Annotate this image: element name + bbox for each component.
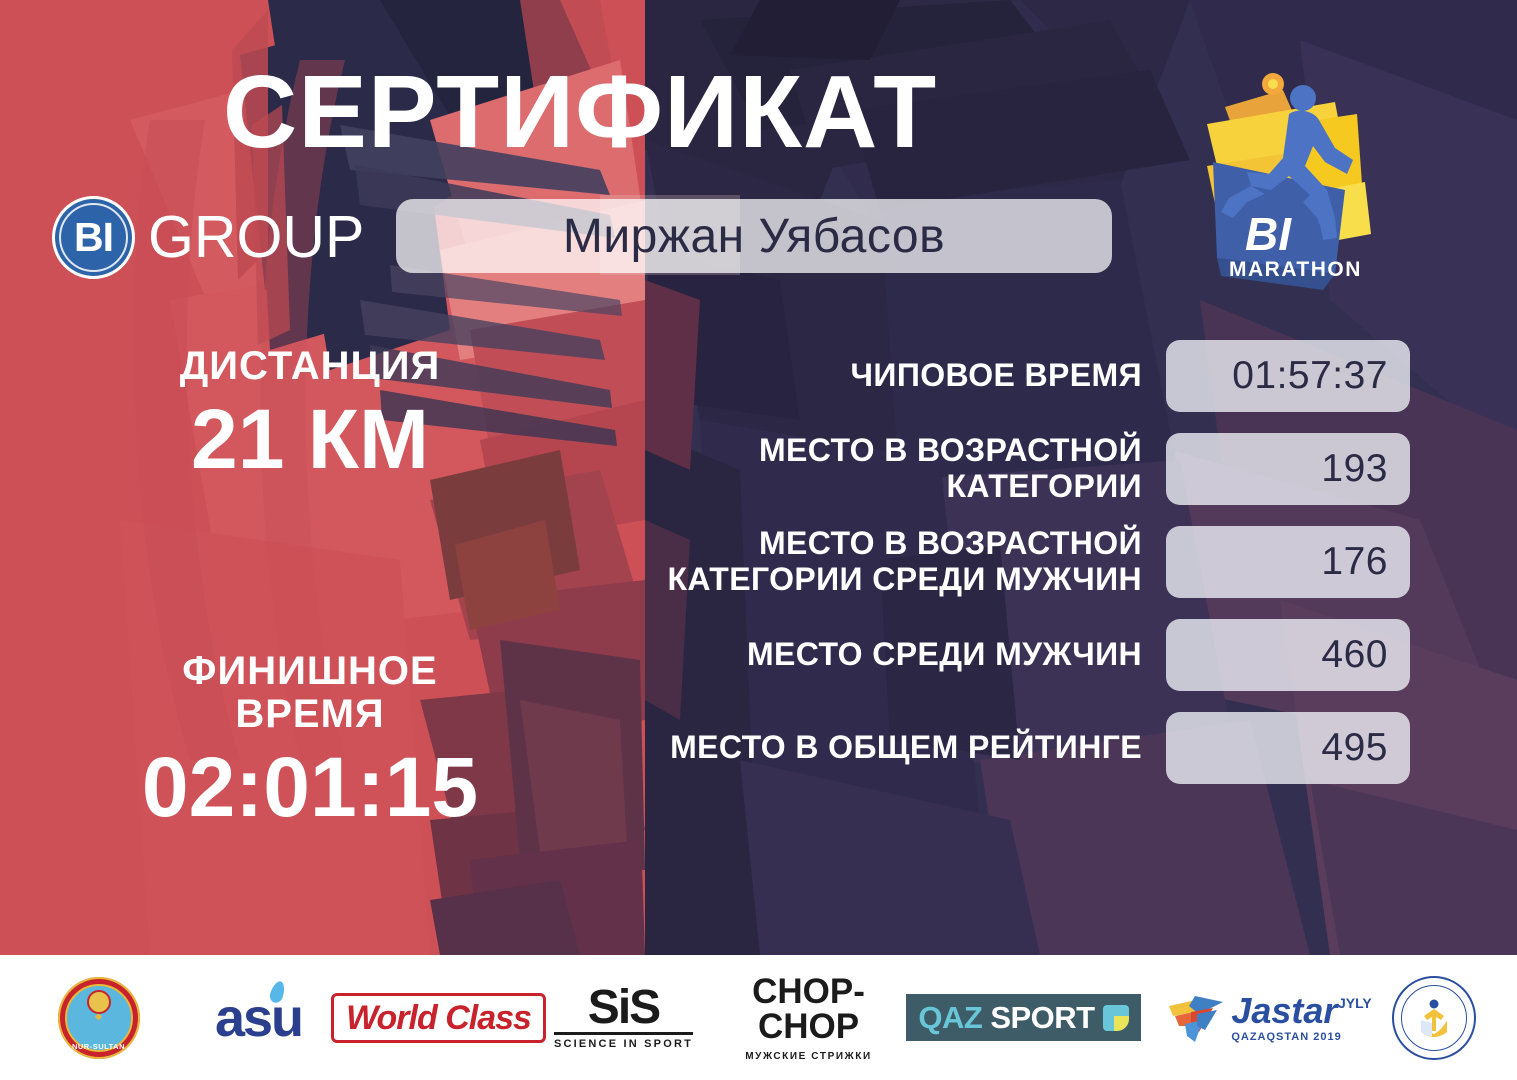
result-label: МЕСТО В ОБЩЕМ РЕЙТИНГЕ [620, 730, 1166, 766]
distance-value: 21 КМ [60, 392, 560, 486]
sponsor-bar: ❖ NUR-SULTAN asu World Class SiS SCIENCE… [0, 955, 1517, 1080]
jastar-wordmark-group: Jastar JYLY QAZAQSTAN 2019 [1231, 993, 1341, 1043]
bi-marathon-emblem-icon: BI MARATHON [1185, 62, 1383, 302]
result-value: 01:57:37 [1166, 340, 1410, 412]
result-row-age-category-men-place: МЕСТО В ВОЗРАСТНОЙ КАТЕГОРИИ СРЕДИ МУЖЧИ… [620, 526, 1410, 598]
qazsport-logo: QAZ SPORT [906, 994, 1140, 1041]
finish-time-value: 02:01:15 [60, 740, 560, 834]
bi-badge-text: BI [74, 217, 113, 258]
bi-group-logo: BI GROUP [52, 196, 364, 279]
sponsor-sis: SiS SCIENCE IN SPORT [539, 968, 709, 1068]
finish-time-label-line2: ВРЕМЯ [60, 693, 560, 736]
certificate-root: СЕРТИФИКАТ BI GROUP Миржан Уябасов [0, 0, 1517, 1080]
qazsport-sport-text: SPORT [990, 1002, 1094, 1033]
sponsor-world-class: World Class [339, 968, 539, 1068]
jastar-wordmark: Jastar [1231, 993, 1341, 1029]
athlete-name: Миржан Уябасов [563, 209, 945, 264]
finish-time-block: ФИНИШНОЕ ВРЕМЯ 02:01:15 [60, 650, 560, 834]
result-label: МЕСТО СРЕДИ МУЖЧИН [620, 637, 1166, 673]
ministry-emblem-figure-icon [1417, 998, 1451, 1038]
jastar-suffix: JYLY [1338, 995, 1372, 1011]
result-label: МЕСТО В ВОЗРАСТНОЙ КАТЕГОРИИ [620, 433, 1166, 505]
seal-ornament: ❖ [94, 1013, 102, 1022]
page-title: СЕРТИФИКАТ [0, 60, 1160, 163]
chop-chop-logo: CHOP-CHOP МУЖСКИЕ СТРИЖКИ [709, 974, 909, 1062]
bi-group-wordmark: GROUP [148, 208, 364, 267]
chop-chop-tagline: МУЖСКИЕ СТРИЖКИ [709, 1051, 909, 1062]
result-value: 495 [1166, 712, 1410, 784]
world-class-wordmark: World Class [331, 993, 546, 1043]
sis-logo: SiS SCIENCE IN SPORT [554, 985, 693, 1050]
nur-sultan-seal-icon: ❖ NUR-SULTAN [58, 977, 140, 1059]
sponsor-asu: asu [179, 968, 339, 1068]
world-class-text: World Class [346, 999, 531, 1037]
result-value: 176 [1166, 526, 1410, 598]
sponsor-nur-sultan: ❖ NUR-SULTAN [19, 968, 179, 1068]
chop-chop-wordmark: CHOP-CHOP [709, 974, 909, 1044]
svg-text:BI: BI [1245, 208, 1292, 260]
sponsor-chop-chop: CHOP-CHOP МУЖСКИЕ СТРИЖКИ [709, 968, 909, 1068]
sponsor-jastar: Jastar JYLY QAZAQSTAN 2019 [1139, 968, 1369, 1068]
distance-block: ДИСТАНЦИЯ 21 КМ [60, 345, 560, 486]
bi-logo-badge-icon: BI [52, 196, 135, 279]
certificate-content: СЕРТИФИКАТ BI GROUP Миржан Уябасов [0, 0, 1517, 955]
jastar-bird-icon [1165, 992, 1225, 1044]
asu-wordmark: asu [215, 991, 302, 1045]
distance-label: ДИСТАНЦИЯ [60, 345, 560, 388]
result-value: 460 [1166, 619, 1410, 691]
asu-text: asu [215, 988, 302, 1048]
result-label: ЧИПОВОЕ ВРЕМЯ [620, 358, 1166, 394]
jastar-tagline: QAZAQSTAN 2019 [1231, 1031, 1341, 1043]
result-row-overall-place: МЕСТО В ОБЩЕМ РЕЙТИНГЕ 495 [620, 712, 1410, 784]
sponsor-ministry [1369, 968, 1499, 1068]
sis-wordmark: SiS [554, 985, 693, 1035]
result-value: 193 [1166, 433, 1410, 505]
result-label: МЕСТО В ВОЗРАСТНОЙ КАТЕГОРИИ СРЕДИ МУЖЧИ… [620, 526, 1166, 598]
seal-sun-icon [87, 990, 111, 1014]
qazsport-qaz-text: QAZ [918, 1002, 982, 1033]
jastar-logo: Jastar JYLY QAZAQSTAN 2019 [1165, 992, 1341, 1044]
result-row-men-place: МЕСТО СРЕДИ МУЖЧИН 460 [620, 619, 1410, 691]
results-list: ЧИПОВОЕ ВРЕМЯ 01:57:37 МЕСТО В ВОЗРАСТНО… [620, 340, 1410, 805]
athlete-name-field: Миржан Уябасов [396, 199, 1112, 273]
bi-marathon-logo: BI MARATHON [1185, 62, 1383, 302]
result-row-age-category-place: МЕСТО В ВОЗРАСТНОЙ КАТЕГОРИИ 193 [620, 433, 1410, 505]
finish-time-label-line1: ФИНИШНОЕ [60, 650, 560, 693]
result-row-chip-time: ЧИПОВОЕ ВРЕМЯ 01:57:37 [620, 340, 1410, 412]
ministry-seal-icon [1392, 976, 1476, 1060]
sponsor-qazsport: QAZ SPORT [909, 968, 1139, 1068]
nur-sultan-seal-text: NUR-SULTAN [58, 1042, 140, 1051]
svg-text:MARATHON: MARATHON [1229, 258, 1362, 281]
qazsport-flag-icon [1103, 1005, 1129, 1031]
sis-tagline: SCIENCE IN SPORT [554, 1038, 693, 1050]
